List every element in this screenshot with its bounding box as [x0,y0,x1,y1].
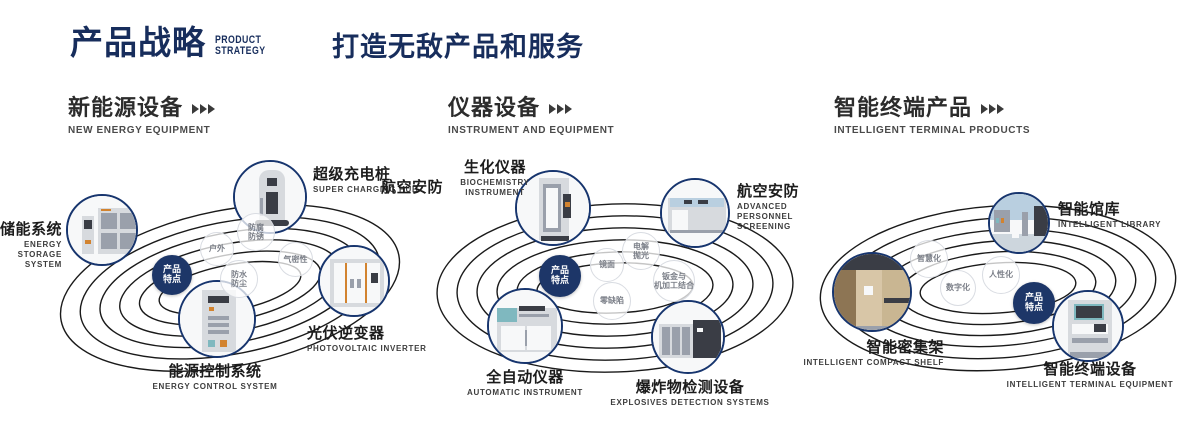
feature-bubble-label: 防水防尘 [231,270,247,289]
section-title-cn: 智能终端产品 [834,96,972,122]
feature-bubble-main[interactable]: 产品特点 [152,255,192,295]
terminal-kiosk-photo [1054,292,1122,360]
feature-bubble-label: 产品特点 [1025,293,1043,314]
feature-bubble-label: 钣金与机加工结合 [654,272,694,291]
node-label-biochemistry-instrument: 生化仪器 BIOCHEMISTRY INSTRUMENT [433,158,557,198]
node-advanced-personnel-screening[interactable] [660,178,730,248]
node-label-aviation-security-left: 航空安防 [355,178,443,196]
page-title-en-line2: STRATEGY [215,46,265,57]
explosives-detector-photo [653,302,723,372]
node-explosives-detection-systems[interactable] [651,300,725,374]
feature-bubble-label: 零缺陷 [600,296,624,306]
product-strategy-infographic: 产品战略 PRODUCT STRATEGY 打造无敌产品和服务 新能源设备 NE… [0,0,1200,422]
page-title-cn: 产品战略 [70,26,206,59]
feature-bubble-humanized[interactable]: 人性化 [982,256,1020,294]
section-header-instrument: 仪器设备 INSTRUMENT AND EQUIPMENT [448,96,614,136]
node-intelligent-compact-shelf[interactable] [832,252,912,332]
feature-bubble-waterproof[interactable]: 防水防尘 [220,260,258,298]
battery-cabinet-photo [68,196,136,264]
feature-bubble-mirror[interactable]: 镜面 [590,248,624,282]
node-intelligent-terminal-equipment[interactable] [1052,290,1124,362]
node-label-intelligent-terminal-equipment: 智能终端设备 INTELLIGENT TERMINAL EQUIPMENT [1000,360,1180,390]
feature-bubble-label: 人性化 [989,270,1013,280]
feature-bubble-label: 智慧化 [917,254,941,264]
feature-bubble-sheetmetal-machining[interactable]: 钣金与机加工结合 [653,260,695,302]
node-label-energy-storage-system: 储能系统 ENERGY STORAGE SYSTEM [0,220,62,270]
section-title-en: NEW ENERGY EQUIPMENT [68,125,216,136]
chevron-right-icon [549,104,573,114]
feature-bubble-label: 镜面 [599,260,615,270]
page-subtitle: 打造无敌产品和服务 [332,34,584,61]
node-label-intelligent-compact-shelf: 智能密集架 INTELLIGENT COMPACT SHELF [764,338,944,368]
feature-bubble-main[interactable]: 产品特点 [1013,282,1055,324]
cluster-new-energy-equipment: 储能系统 ENERGY STORAGE SYSTEM 超级充电桩 SUPER C… [30,160,430,410]
page-title: 产品战略 PRODUCT STRATEGY [70,26,278,59]
node-photovoltaic-inverter[interactable] [318,245,390,317]
feature-bubble-main[interactable]: 产品特点 [539,255,581,297]
feature-bubble-label: 防腐防锈 [248,223,264,242]
feature-bubble-label: 产品特点 [551,266,569,287]
library-photo [990,194,1048,252]
cluster-intelligent-terminal-products: 智能馆库 INTELLIGENT LIBRARY 智能密集架 INTELLIGE… [800,160,1200,410]
feature-bubble-label: 数字化 [946,283,970,293]
node-label-explosives-detection-systems: 爆炸物检测设备 EXPLOSIVES DETECTION SYSTEMS [595,378,785,408]
section-title-cn: 仪器设备 [448,96,540,122]
node-intelligent-library[interactable] [988,192,1050,254]
node-label-photovoltaic-inverter: 光伏逆变器 PHOTOVOLTAIC INVERTER [307,324,427,354]
section-title-cn: 新能源设备 [68,96,183,122]
node-energy-storage-system[interactable] [66,194,138,266]
section-title-en: INSTRUMENT AND EQUIPMENT [448,125,614,136]
node-label-intelligent-library: 智能馆库 INTELLIGENT LIBRARY [1058,200,1161,230]
feature-bubble-label: 气密性 [284,255,308,265]
feature-bubble-outdoor[interactable]: 户外 [200,232,234,266]
cluster-instrument-and-equipment: 航空安防 生化仪器 BIOCHEMISTRY INSTRUMENT 航空安防 A… [415,160,815,410]
feature-bubble-electropolish[interactable]: 电解抛光 [622,232,660,270]
feature-bubble-anticorrosion[interactable]: 防腐防锈 [237,213,275,251]
feature-bubble-zero-defect[interactable]: 零缺陷 [593,282,631,320]
inverter-cabinet-photo [320,247,388,315]
automatic-instrument-photo [489,290,561,362]
compact-shelf-photo [834,254,910,330]
personnel-screening-photo [662,180,728,246]
feature-bubble-smart[interactable]: 智慧化 [910,240,948,278]
chevron-right-icon [981,104,1005,114]
feature-bubble-label: 电解抛光 [633,242,649,261]
section-title-en: INTELLIGENT TERMINAL PRODUCTS [834,125,1030,136]
page-title-en: PRODUCT STRATEGY [215,35,265,57]
section-header-new-energy: 新能源设备 NEW ENERGY EQUIPMENT [68,96,216,136]
feature-bubble-airtight[interactable]: 气密性 [278,242,313,277]
node-automatic-instrument[interactable] [487,288,563,364]
feature-bubble-label: 户外 [209,244,225,254]
feature-bubble-digital[interactable]: 数字化 [940,270,976,306]
chevron-right-icon [192,104,216,114]
feature-bubble-label: 产品特点 [163,265,181,286]
section-header-intelligent: 智能终端产品 INTELLIGENT TERMINAL PRODUCTS [834,96,1030,136]
node-label-energy-control-system: 能源控制系统 ENERGY CONTROL SYSTEM [80,362,350,392]
